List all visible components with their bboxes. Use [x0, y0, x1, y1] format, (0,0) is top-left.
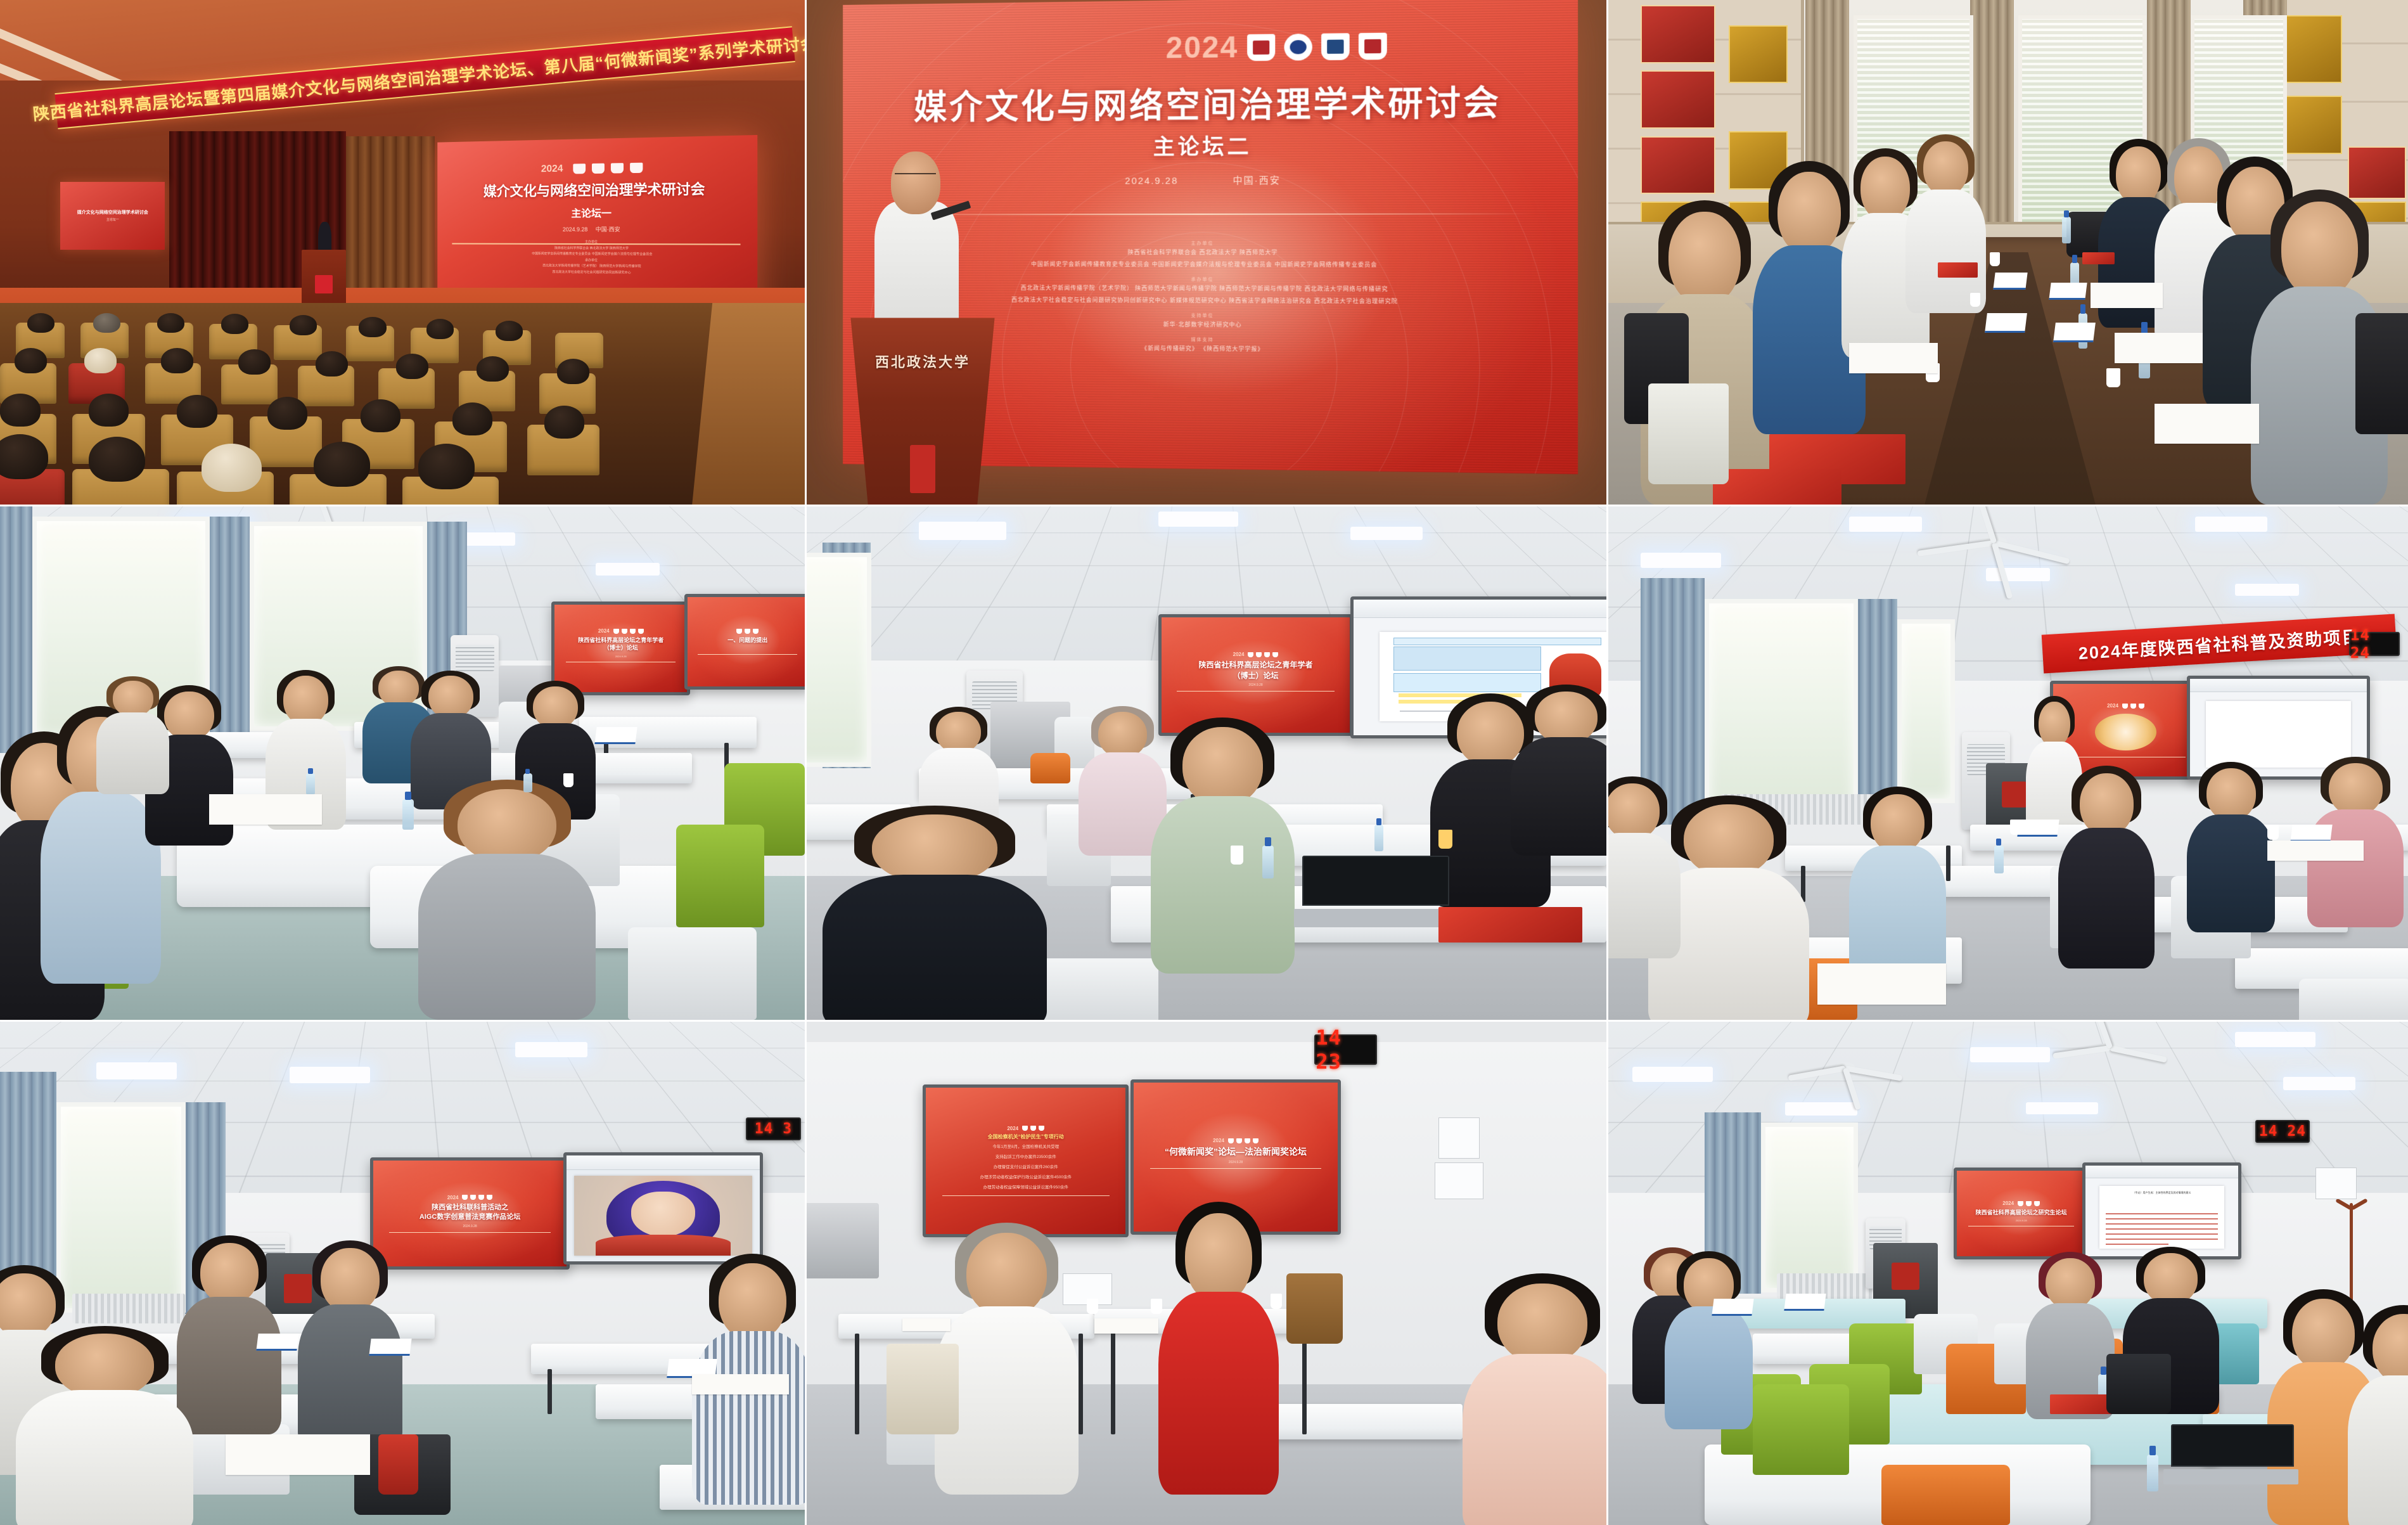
keynote-speaker-head — [891, 151, 940, 215]
display-right: 一、问题的提出 — [684, 594, 805, 690]
display-left-line-1: 今年1月至8月，全国检察机关共受理 — [992, 1143, 1059, 1151]
led-date-location: 2024.9.28 中国·西安 — [843, 172, 1578, 188]
display-left-date: 2024.9.28 — [463, 1225, 477, 1228]
display-left-date: 2024.9.28 — [615, 655, 627, 658]
classroom-window-1 — [1705, 599, 1858, 813]
radiator — [72, 1294, 185, 1324]
emblem-seal-icon — [1284, 34, 1312, 61]
display-left: 2024 全国检察机关“检护民生”专项行动 今年1月至8月，全国检察机关共受理 … — [923, 1084, 1129, 1237]
attendee-2 — [1665, 1258, 1753, 1429]
podium-emblem-icon — [910, 445, 936, 494]
display-left-heading: 全国检察机关“检护民生”专项行动 — [988, 1134, 1064, 1141]
display-left-title-1: 陕西省社科联科普活动之 — [432, 1203, 508, 1213]
emblem-shield-icon — [1247, 34, 1275, 61]
name-card-1 — [2017, 820, 2059, 837]
emblem-icon-3 — [611, 163, 624, 173]
screen-subtitle: 主论坛一 — [572, 205, 612, 220]
wall-notice — [2315, 1168, 2357, 1199]
led-year: 2024 — [1166, 30, 1239, 65]
digital-clock: 14 24 — [2349, 632, 2400, 656]
attendee-5 — [1511, 692, 1606, 856]
clock-time: 14 23 — [1316, 1026, 1376, 1074]
panel-auditorium-main-forum: 陕西省社科界高层论坛暨第四届媒介文化与网络空间治理学术论坛、第八届“何微新闻奖”… — [0, 0, 805, 505]
led-subtitle: 主论坛二 — [843, 127, 1578, 162]
display-left: 2024 陕西省社科界高层论坛之研究生论坛 2024.9.28 — [1954, 1168, 2089, 1259]
display-left-date: 2024.9.28 — [2016, 1219, 2027, 1222]
display-right-heading: 一、问题的提出 — [727, 636, 767, 644]
display-left-title-2: （博士）论坛 — [1233, 671, 1279, 681]
classroom-window-2 — [1897, 619, 1954, 802]
panel-classroom-ppt-presentation: 2024 陕西省社科界高层论坛之青年学者 （博士）论坛 2024.9.28 — [807, 506, 1606, 1020]
display-left-line-4: 办理涉劳动者权益保护行政公益诉讼案件4500余件 — [980, 1174, 1072, 1181]
display-left: 2024 陕西省社科界高层论坛之青年学者 （博士）论坛 2024.9.28 — [551, 602, 691, 695]
screen-year: 2024 — [541, 164, 563, 175]
keynote-speaker-body — [874, 202, 959, 338]
ceiling-fan-icon-2 — [2050, 1027, 2170, 1067]
led-logo-row: 2024 — [1166, 29, 1387, 66]
panel-classroom-graduate-student-forum: 14 24 2024 陕西省社科界高层论坛之研究生论坛 2024.9.28 （专… — [1608, 1022, 2408, 1525]
classroom-window — [807, 553, 871, 767]
attendee-foreground — [823, 814, 1046, 1020]
panel-classroom-aigc-forum: 14 3 2024 陕西省社科联科普活动之 AIGC数字创意普法竞赛作品论坛 2… — [0, 1022, 805, 1525]
emblem-book-icon — [1321, 33, 1350, 60]
ceiling-fan-icon-1 — [1785, 1047, 1905, 1088]
display-left-line-2: 支持起诉工作中办案件23500余件 — [996, 1154, 1056, 1161]
aigc-portrait — [574, 1176, 752, 1256]
digital-clock: 14 3 — [746, 1117, 801, 1140]
screen-title: 媒介文化与网络空间治理学术研讨会 — [484, 178, 705, 201]
panel-classroom-hewei-news-award-forum: 14 23 2024 全国检察机关“检护民生”专项行动 今年1月至8月，全国检察… — [807, 1022, 1606, 1525]
display-right-heading: （专论）用户生成：主体性的界定及其对情境的意义 — [2110, 1191, 2215, 1195]
attendee-edge — [1608, 783, 1681, 958]
laptop — [1302, 856, 1446, 927]
display-left-line-3: 办理督促支付公益诉讼案件260余件 — [994, 1164, 1058, 1171]
display-right-title: “何微新闻奖”论坛—法治新闻奖论坛 — [1165, 1146, 1307, 1158]
display-left-title-1: 陕西省社科界高层论坛之青年学者 — [1199, 660, 1313, 670]
digital-clock: 14 24 — [2255, 1120, 2310, 1143]
wall-sign-2 — [1435, 1162, 1484, 1199]
clock-time: 14 3 — [755, 1121, 792, 1137]
classroom-window — [1761, 1123, 1858, 1292]
led-organizer-block: 主办单位 陕西省社会科学界联合会 西北政法大学 陕西师范大学 中国新闻史学会新闻… — [914, 235, 1502, 357]
photo-collage: 陕西省社科界高层论坛暨第四届媒介文化与网络空间治理学术论坛、第八届“何微新闻奖”… — [0, 0, 2408, 1521]
led-date: 2024.9.28 — [1125, 176, 1178, 186]
display-right: （专论）用户生成：主体性的界定及其对情境的意义 — [2082, 1162, 2241, 1259]
screen-date-location: 2024.9.28 中国·西安 — [563, 225, 620, 233]
attendee-1 — [1849, 794, 1945, 979]
attendee-2 — [2058, 773, 2155, 968]
attendee-3 — [1463, 1284, 1606, 1525]
side-screen-title: 媒介文化与网络空间治理学术研讨会 — [77, 209, 148, 216]
screen-logo-row: 2024 — [541, 162, 643, 176]
display-left-title-2: （博士）论坛 — [604, 644, 638, 652]
attendee-left-4 — [1905, 141, 1986, 313]
panel-classroom-youth-scholar-forum: 2024 陕西省社科界高层论坛之青年学者 （博士）论坛 2024.9.28 一、… — [0, 506, 805, 1020]
emblem-icon-2 — [592, 164, 605, 174]
clock-time: 14 24 — [2350, 626, 2398, 662]
attendee-6 — [2348, 1314, 2408, 1525]
stage-podium: 西北政法大学 — [850, 318, 994, 505]
display-right-date: 2024.9.28 — [1229, 1161, 1243, 1164]
led-title: 媒介文化与网络空间治理学术研讨会 — [843, 74, 1578, 130]
digital-clock: 14 23 — [1314, 1034, 1377, 1065]
student-4 — [96, 681, 169, 794]
ceiling-fan-icon — [1914, 517, 2075, 568]
attendee-2 — [1158, 1213, 1278, 1495]
emblem-banner-icon — [1359, 32, 1387, 60]
laptop — [2171, 1424, 2291, 1484]
display-right — [563, 1152, 763, 1264]
podium-university-label: 西北政法大学 — [850, 351, 994, 371]
display-left: 2024 陕西省社科界高层论坛之青年学者 （博士）论坛 2024.9.28 — [1158, 614, 1353, 736]
led-location: 中国·西安 — [1233, 175, 1281, 186]
panel-meeting-room-roundtable — [1608, 0, 2408, 505]
display-left-line-5: 办理劳动者权益保障领域公益诉讼案件950余件 — [983, 1184, 1068, 1192]
display-left-title-2: AIGC数字创意普法竞赛作品论坛 — [419, 1213, 521, 1222]
media-cabinet — [807, 1203, 879, 1278]
display-left-title-1: 陕西省社科界高层论坛之青年学者 — [578, 636, 663, 644]
auditorium-side-screen: 媒介文化与网络空间治理学术研讨会 主论坛一 — [60, 182, 165, 250]
panel-led-stage-keynote: 2024 媒介文化与网络空间治理学术研讨会 主论坛二 2024.9.28 中国·… — [807, 0, 1606, 505]
wall-sign-1 — [1438, 1117, 1480, 1159]
attendee-foreground — [16, 1334, 193, 1525]
student-foreground — [418, 789, 595, 1020]
screen-organizer-block: 主办单位 陕西省社会科学界联合会 西北政法大学 陕西师范大学 中国新闻史学会新闻… — [483, 240, 707, 277]
attendee-3 — [2187, 768, 2275, 932]
display-left-title: 陕西省社科界高层论坛之研究生论坛 — [1976, 1209, 2067, 1216]
emblem-icon-1 — [573, 164, 586, 174]
panel-classroom-popular-science-project: 2024年度陕西省社科普及资助项目 14 24 2024 — [1608, 506, 2408, 1020]
clock-time: 14 24 — [2259, 1123, 2306, 1140]
name-card-1 — [257, 1334, 299, 1351]
emblem-icon-4 — [630, 163, 643, 173]
name-card-2 — [2290, 825, 2333, 842]
side-screen-subtitle: 主论坛一 — [106, 217, 119, 222]
display-left-date: 2024.9.28 — [1248, 683, 1262, 687]
auditorium-podium — [302, 250, 346, 311]
